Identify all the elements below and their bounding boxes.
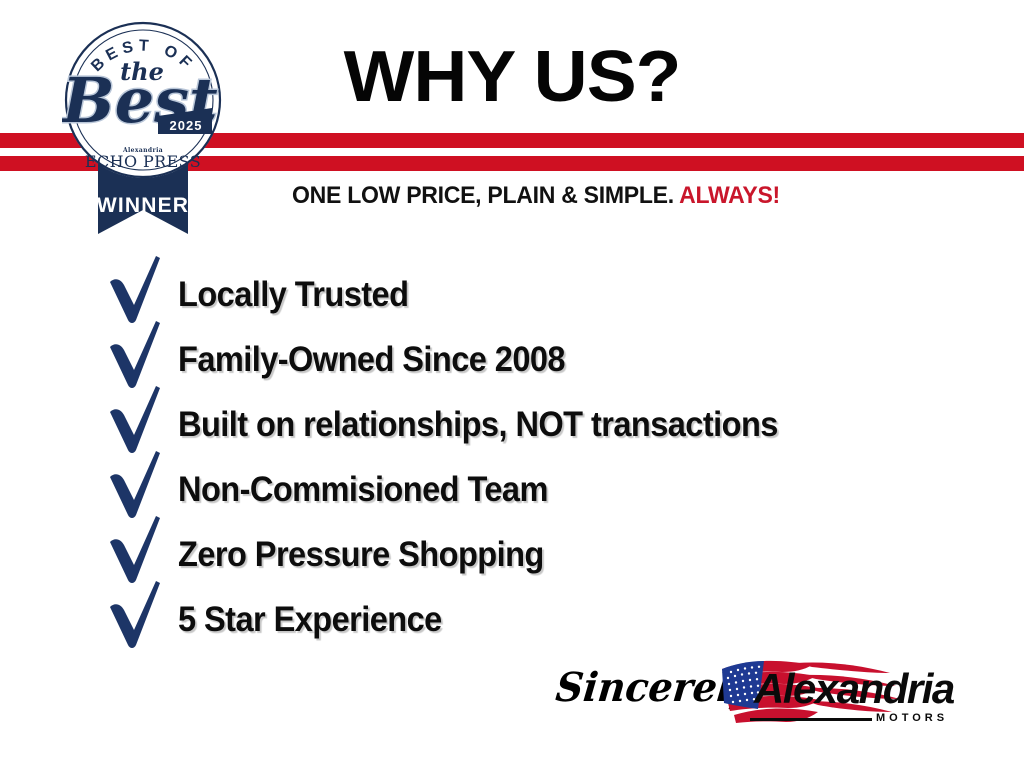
list-item-label: Locally Trusted [178, 276, 408, 314]
list-item: Locally Trusted [100, 262, 1000, 327]
list-item: 5 Star Experience [100, 587, 1000, 652]
brand-name: Alexandria [754, 667, 954, 711]
list-item-label: Built on relationships, NOT transactions [178, 406, 778, 444]
brand-subtitle: MOTORS [876, 712, 948, 724]
best-of-the-best-badge: BEST OF Best the 2025 Alexandria ECHO PR… [62, 12, 224, 234]
svg-text:WINNER: WINNER [97, 194, 189, 217]
slide-canvas: WHY US? ONE LOW PRICE, PLAIN & SIMPLE. A… [0, 0, 1024, 768]
list-item-label: 5 Star Experience [178, 601, 442, 639]
check-icon [100, 522, 178, 587]
svg-text:2025: 2025 [170, 118, 203, 133]
svg-text:the: the [120, 57, 164, 86]
alexandria-motors-logo: Alexandria MOTORS [708, 655, 966, 735]
subtitle-emphasis: ALWAYS! [679, 182, 780, 209]
check-icon [100, 327, 178, 392]
check-icon [100, 262, 178, 327]
check-icon [100, 392, 178, 457]
list-item: Zero Pressure Shopping [100, 522, 1000, 587]
benefits-list: Locally Trusted Family-Owned Since 2008 … [100, 262, 1000, 652]
list-item: Family-Owned Since 2008 [100, 327, 1000, 392]
list-item-label: Zero Pressure Shopping [178, 536, 544, 574]
list-item-label: Non-Commisioned Team [178, 471, 548, 509]
list-item-label: Family-Owned Since 2008 [178, 341, 565, 379]
check-icon [100, 587, 178, 652]
subtitle-main: ONE LOW PRICE, PLAIN & SIMPLE. [292, 182, 674, 209]
check-icon [100, 457, 178, 522]
logo-underline [750, 718, 872, 721]
list-item: Non-Commisioned Team [100, 457, 1000, 522]
svg-text:ECHO PRESS: ECHO PRESS [85, 152, 201, 171]
list-item: Built on relationships, NOT transactions [100, 392, 1000, 457]
